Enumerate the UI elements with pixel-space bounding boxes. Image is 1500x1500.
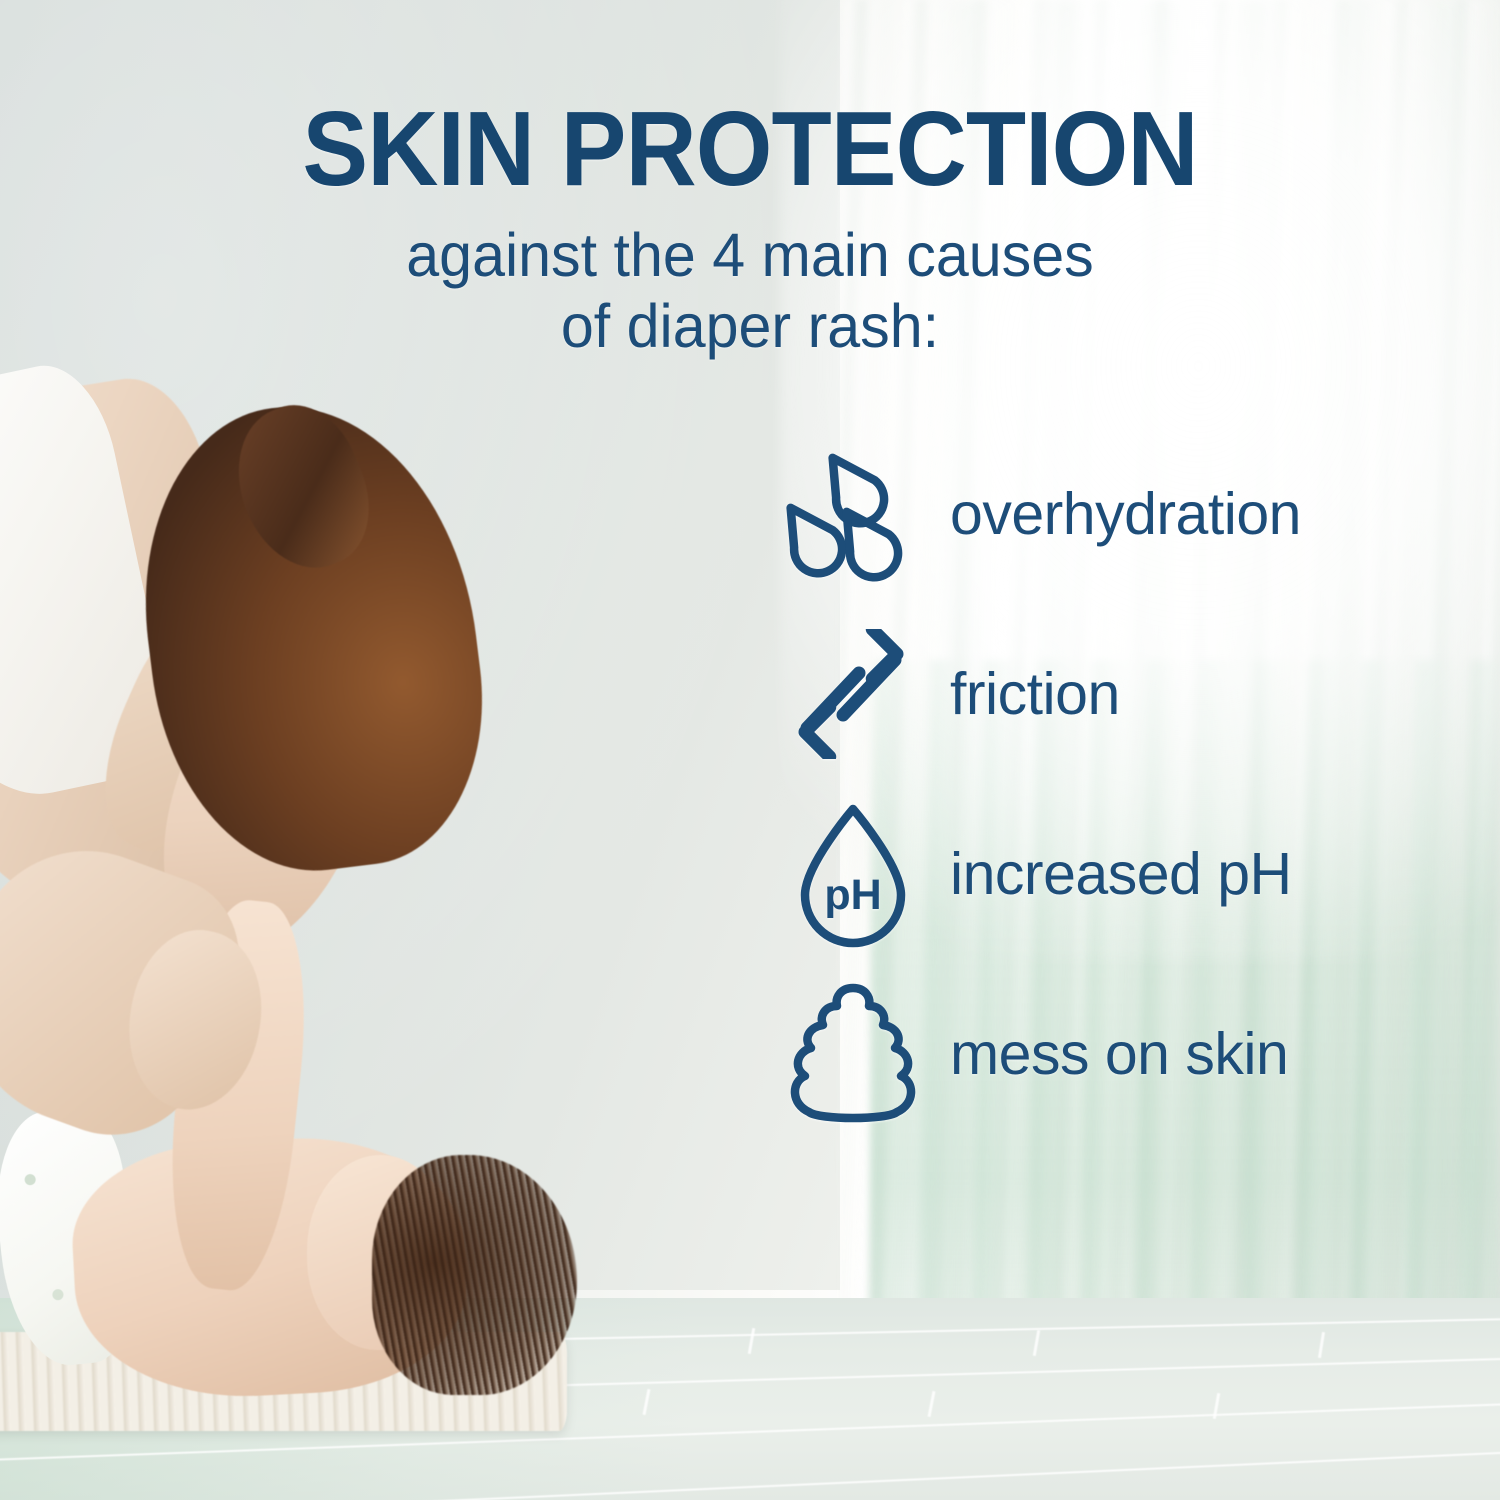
list-item-label: mess on skin [950,1020,1288,1088]
list-item-label: increased pH [950,840,1292,908]
list-item-increased-ph: pH increased pH [778,784,1478,964]
ph-droplet-icon: pH [778,799,928,949]
list-item-overhydration: overhydration [778,424,1478,604]
mess-swirl-icon [778,979,928,1129]
floor-grout-line [1318,1332,1325,1358]
baby-hair [372,1155,577,1395]
water-droplets-icon [778,439,928,589]
causes-list: overhydration friction pH [778,424,1478,1144]
list-item-friction: friction [778,604,1478,784]
floor-grout-line [1033,1330,1040,1356]
double-arrow-friction-icon [778,619,928,769]
ph-label: pH [824,871,881,919]
list-item-mess-on-skin: mess on skin [778,964,1478,1144]
marketing-image: SKIN PROTECTION against the 4 main cause… [0,0,1500,1500]
list-item-label: friction [950,660,1120,728]
list-item-label: overhydration [950,480,1301,548]
